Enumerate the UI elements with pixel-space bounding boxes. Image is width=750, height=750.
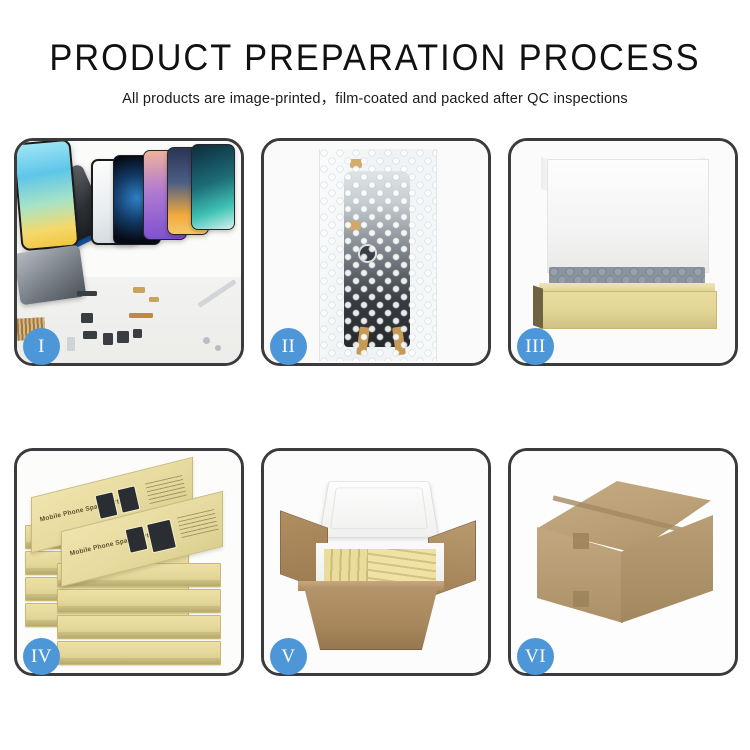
screw-icon xyxy=(203,337,210,344)
panel-badge: VI xyxy=(517,638,554,675)
small-part-icon xyxy=(133,329,142,338)
small-part-icon xyxy=(103,333,113,345)
phone-large-front-icon xyxy=(17,141,80,251)
panel-badge: I xyxy=(23,328,60,365)
page-title: PRODUCT PREPARATION PROCESS xyxy=(26,36,724,80)
panel-parts-overview[interactable]: I xyxy=(14,138,244,366)
carton-corner-tab-icon xyxy=(573,533,589,549)
carton-front-face-icon xyxy=(304,587,438,650)
small-part-icon xyxy=(83,331,97,339)
phone-screen-teal-icon xyxy=(191,144,235,230)
panel-badge: III xyxy=(517,328,554,365)
product-preparation-infographic: PRODUCT PREPARATION PROCESS All products… xyxy=(0,0,750,750)
retail-box-icon xyxy=(57,615,221,639)
panel-sealed-shipping-carton[interactable]: VI xyxy=(508,448,738,676)
small-part-icon xyxy=(77,291,97,296)
header: PRODUCT PREPARATION PROCESS All products… xyxy=(0,36,750,108)
process-panel-grid: I II xyxy=(14,138,738,676)
foam-cooler-lid-icon xyxy=(319,481,439,538)
bubble-wrap-bag xyxy=(319,149,437,361)
panel-badge: V xyxy=(270,638,307,675)
retail-box-icon xyxy=(57,641,221,665)
panel-open-kraft-box[interactable]: III xyxy=(508,138,738,366)
retail-box-icon xyxy=(57,589,221,613)
panel-badge: IV xyxy=(23,638,60,675)
flex-cable-icon xyxy=(129,313,153,318)
carton-corner-tab-icon xyxy=(573,591,589,607)
phone-back-plate-icon xyxy=(17,245,86,306)
panel-badge: II xyxy=(270,328,307,365)
small-part-icon xyxy=(81,313,93,323)
panel-stacked-retail-boxes[interactable]: Mobile Phone Spare Parts Mobile Phone Sp… xyxy=(14,448,244,676)
screw-icon xyxy=(215,345,221,351)
page-subtitle: All products are image-printed，film-coat… xyxy=(11,87,739,108)
bubble-texture xyxy=(320,149,436,361)
yellow-boxes-bundle-icon xyxy=(368,549,436,585)
kraft-box-body-icon xyxy=(539,291,717,329)
white-foam-lid-icon xyxy=(547,159,709,273)
small-part-icon xyxy=(67,337,75,351)
small-part-icon xyxy=(117,331,129,343)
box-side-icon xyxy=(533,285,543,328)
panel-carton-with-foam-insert[interactable]: V xyxy=(261,448,491,676)
small-part-icon xyxy=(133,287,145,293)
panel-bubble-wrapped-part[interactable]: II xyxy=(261,138,491,366)
small-part-icon xyxy=(149,297,159,302)
